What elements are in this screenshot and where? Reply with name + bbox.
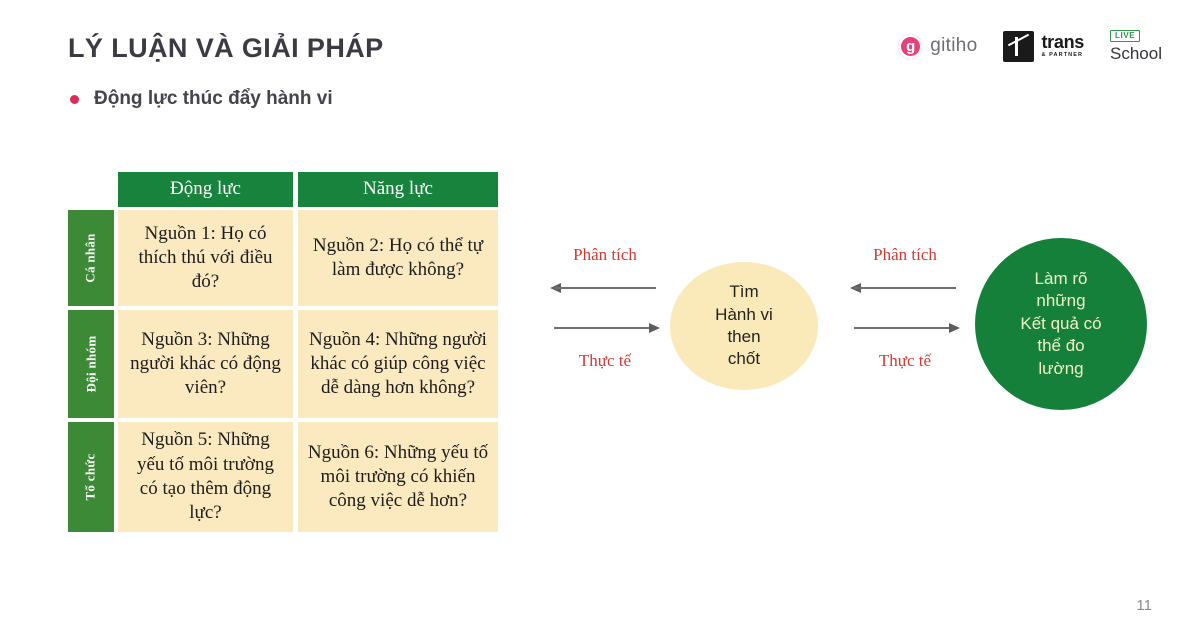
matrix-row-label-text: Cá nhân — [83, 233, 99, 282]
arrow-group-left: Phân tích Thực tế — [550, 245, 660, 371]
matrix-corner-cell — [68, 172, 118, 210]
live-badge: LIVE — [1110, 30, 1140, 42]
matrix-cell-source-2: Nguồn 2: Họ có thể tự làm được không? — [298, 210, 498, 306]
page-title: LÝ LUẬN VÀ GIẢI PHÁP — [68, 33, 384, 64]
trans-wordmark: trans & PARTNER — [1041, 33, 1084, 59]
trans-square-icon — [1003, 31, 1034, 62]
arrow-shaft — [854, 287, 956, 289]
motivation-ability-matrix: Động lực Năng lực Cá nhân Nguồn 1: Họ có… — [68, 172, 498, 536]
arrow-group-right: Phân tích Thực tế — [850, 245, 960, 371]
school-wordmark: School — [1110, 45, 1162, 62]
gitiho-circle-icon — [898, 34, 923, 59]
arrow-shaft — [554, 327, 656, 329]
matrix-row-label-individual: Cá nhân — [68, 210, 114, 306]
logo-bar: gitiho trans & PARTNER LIVE School — [898, 30, 1162, 62]
matrix-row-label-team: Đội nhóm — [68, 310, 114, 418]
matrix-cell-source-3: Nguồn 3: Những người khác có động viên? — [118, 310, 293, 418]
arrowhead-icon — [949, 323, 960, 333]
page-number: 11 — [1136, 597, 1152, 614]
trans-name: trans — [1041, 33, 1084, 51]
arrow-right-pointing-icon — [850, 321, 960, 335]
matrix-row: Cá nhân Nguồn 1: Họ có thích thú với điề… — [68, 210, 498, 310]
arrow-spacer — [850, 295, 960, 321]
matrix-cell-source-4: Nguồn 4: Những người khác có giúp công v… — [298, 310, 498, 418]
matrix-column-header-ability: Năng lực — [298, 172, 498, 207]
arrow-spacer — [550, 295, 660, 321]
matrix-column-header-motivation: Động lực — [118, 172, 293, 207]
matrix-row: Đội nhóm Nguồn 3: Những người khác có độ… — [68, 310, 498, 422]
gitiho-wordmark: gitiho — [930, 35, 977, 57]
logo-trans: trans & PARTNER — [1003, 31, 1084, 62]
matrix-cell-source-1: Nguồn 1: Họ có thích thú với điều đó? — [118, 210, 293, 306]
trans-tagline: & PARTNER — [1041, 53, 1084, 59]
arrow-shaft — [854, 327, 956, 329]
bullet-label: Động lực thúc đẩy hành vi — [94, 88, 333, 110]
arrow-left-pointing-icon — [550, 281, 660, 295]
matrix-cell-source-6: Nguồn 6: Những yếu tố môi trường có khiế… — [298, 422, 498, 532]
matrix-row: Tổ chức Nguồn 5: Những yếu tố môi trường… — [68, 422, 498, 536]
arrow-shaft — [554, 287, 656, 289]
arrow-right-pointing-icon — [550, 321, 660, 335]
slide: LÝ LUẬN VÀ GIẢI PHÁP Động lực thúc đẩy h… — [0, 0, 1200, 630]
logo-gitiho: gitiho — [898, 34, 977, 59]
matrix-header-row: Động lực Năng lực — [68, 172, 498, 210]
flow-label-analysis-left: Phân tích — [550, 245, 660, 265]
bullet-item: Động lực thúc đẩy hành vi — [70, 88, 333, 110]
matrix-row-label-organization: Tổ chức — [68, 422, 114, 532]
logo-live-school: LIVE School — [1110, 30, 1162, 62]
arrow-left-pointing-icon — [850, 281, 960, 295]
matrix-cell-source-5: Nguồn 5: Những yếu tố môi trường có tạo … — [118, 422, 293, 532]
matrix-row-label-text: Đội nhóm — [83, 336, 99, 393]
arrowhead-icon — [649, 323, 660, 333]
bullet-dot-icon — [70, 95, 79, 104]
flow-node-key-behavior: Tìm Hành vi then chốt — [670, 262, 818, 390]
behavior-flow-diagram: Phân tích Thực tế Tìm Hành vi then chốt … — [530, 225, 1170, 425]
flow-label-reality-right: Thực tế — [850, 351, 960, 371]
flow-label-analysis-right: Phân tích — [850, 245, 960, 265]
flow-node-measurable-results: Làm rõ những Kết quả có thể đo lường — [975, 238, 1147, 410]
flow-label-reality-left: Thực tế — [550, 351, 660, 371]
matrix-row-label-text: Tổ chức — [83, 453, 99, 500]
